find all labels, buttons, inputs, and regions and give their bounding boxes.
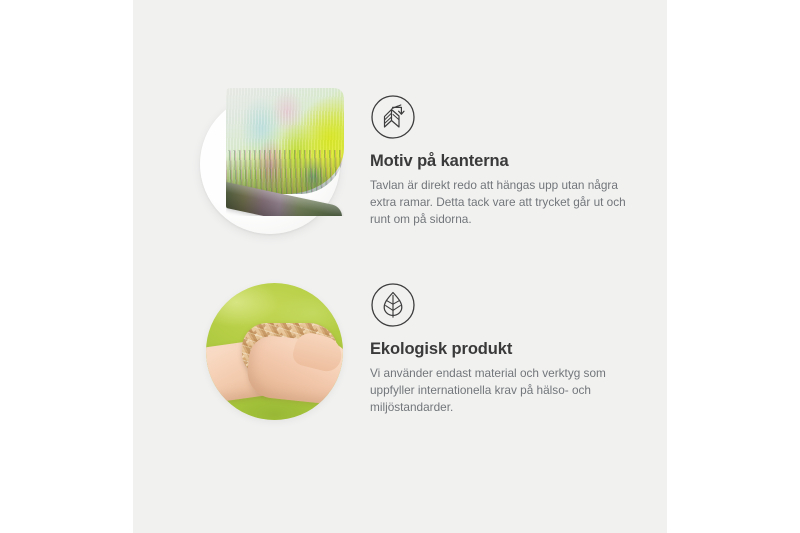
feature-text-block: Ekologisk produkt Vi använder endast mat… bbox=[370, 276, 670, 416]
wood-chips-hands-photo bbox=[198, 276, 348, 428]
center-panel bbox=[133, 0, 667, 533]
feature-block-eco-product: Ekologisk produkt Vi använder endast mat… bbox=[133, 276, 670, 428]
canvas-corner-photo bbox=[198, 88, 348, 240]
canvas-corner-illustration bbox=[226, 88, 344, 216]
feature-text-block: Motiv på kanterna Tavlan är direkt redo … bbox=[370, 88, 670, 228]
canvas-print-face bbox=[226, 88, 344, 194]
feature-description: Tavlan är direkt redo att hängas upp uta… bbox=[370, 177, 642, 229]
photo-circle-backdrop bbox=[206, 283, 343, 420]
feature-title: Motiv på kanterna bbox=[370, 152, 670, 172]
product-info-graphic: Motiv på kanterna Tavlan är direkt redo … bbox=[0, 0, 800, 533]
feature-title: Ekologisk produkt bbox=[370, 340, 670, 360]
leaf-eco-icon bbox=[370, 282, 416, 328]
feature-block-canvas-edges: Motiv på kanterna Tavlan är direkt redo … bbox=[133, 88, 670, 240]
feature-description: Vi använder endast material och verktyg … bbox=[370, 365, 648, 417]
canvas-wrapped-edges-icon bbox=[370, 94, 416, 140]
